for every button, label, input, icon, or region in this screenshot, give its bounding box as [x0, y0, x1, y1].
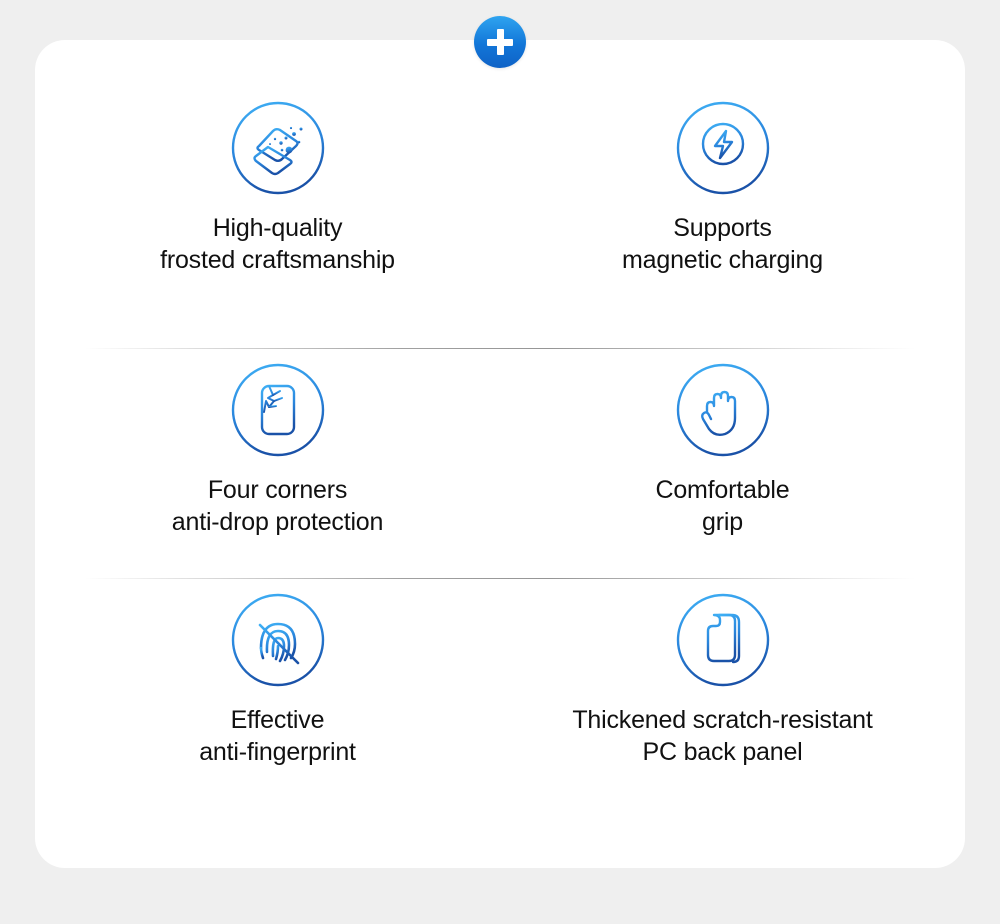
feature-label-line1: High-quality: [213, 214, 343, 242]
plus-icon-vertical: [497, 29, 504, 55]
phone-corner-drop-icon: [228, 360, 328, 460]
feature-label-line2: anti-drop protection: [172, 506, 383, 538]
feature-item-magnetic-charging[interactable]: Supports magnetic charging: [500, 88, 941, 350]
feature-label-line1: Four corners: [208, 476, 347, 504]
feature-label: High-quality frosted craftsmanship: [160, 212, 395, 276]
fingerprint-blocked-icon: [228, 590, 328, 690]
feature-label-line2: frosted craftsmanship: [160, 244, 395, 276]
feature-row-3: Effective anti-fingerprint: [59, 580, 941, 830]
feature-label: Four corners anti-drop protection: [172, 474, 383, 538]
feature-item-comfortable-grip[interactable]: Comfortable grip: [500, 350, 941, 580]
feature-infographic: High-quality frosted craftsmanship: [0, 0, 1000, 924]
feature-label-line1: Effective: [231, 706, 325, 734]
feature-label-line1: Comfortable: [656, 476, 790, 504]
feature-item-frosted-craftsmanship[interactable]: High-quality frosted craftsmanship: [59, 88, 500, 350]
feature-label: Comfortable grip: [656, 474, 790, 538]
feature-grid: High-quality frosted craftsmanship: [35, 88, 965, 830]
feature-label: Thickened scratch-resistant PC back pane…: [572, 704, 872, 768]
feature-label-line2: grip: [656, 506, 790, 538]
feature-item-anti-drop[interactable]: Four corners anti-drop protection: [59, 350, 500, 580]
feature-row-1: High-quality frosted craftsmanship: [59, 88, 941, 350]
section-divider-2: [85, 578, 915, 579]
feature-label-line2: magnetic charging: [622, 244, 823, 276]
open-hand-grip-icon: [673, 360, 773, 460]
feature-label-line1: Thickened scratch-resistant: [572, 706, 872, 734]
frosted-texture-icon: [228, 98, 328, 198]
feature-card: High-quality frosted craftsmanship: [35, 40, 965, 868]
feature-label-line2: PC back panel: [572, 736, 872, 768]
feature-label-line1: Supports: [673, 214, 771, 242]
feature-label-line2: anti-fingerprint: [199, 736, 356, 768]
feature-label: Supports magnetic charging: [622, 212, 823, 276]
plus-badge-button[interactable]: [474, 16, 526, 68]
feature-row-2: Four corners anti-drop protection: [59, 350, 941, 580]
section-divider-1: [85, 348, 915, 349]
feature-item-anti-fingerprint[interactable]: Effective anti-fingerprint: [59, 580, 500, 830]
feature-label: Effective anti-fingerprint: [199, 704, 356, 768]
feature-item-pc-back-panel[interactable]: Thickened scratch-resistant PC back pane…: [500, 580, 941, 830]
layered-back-panel-icon: [673, 590, 773, 690]
magnetic-charging-icon: [673, 98, 773, 198]
